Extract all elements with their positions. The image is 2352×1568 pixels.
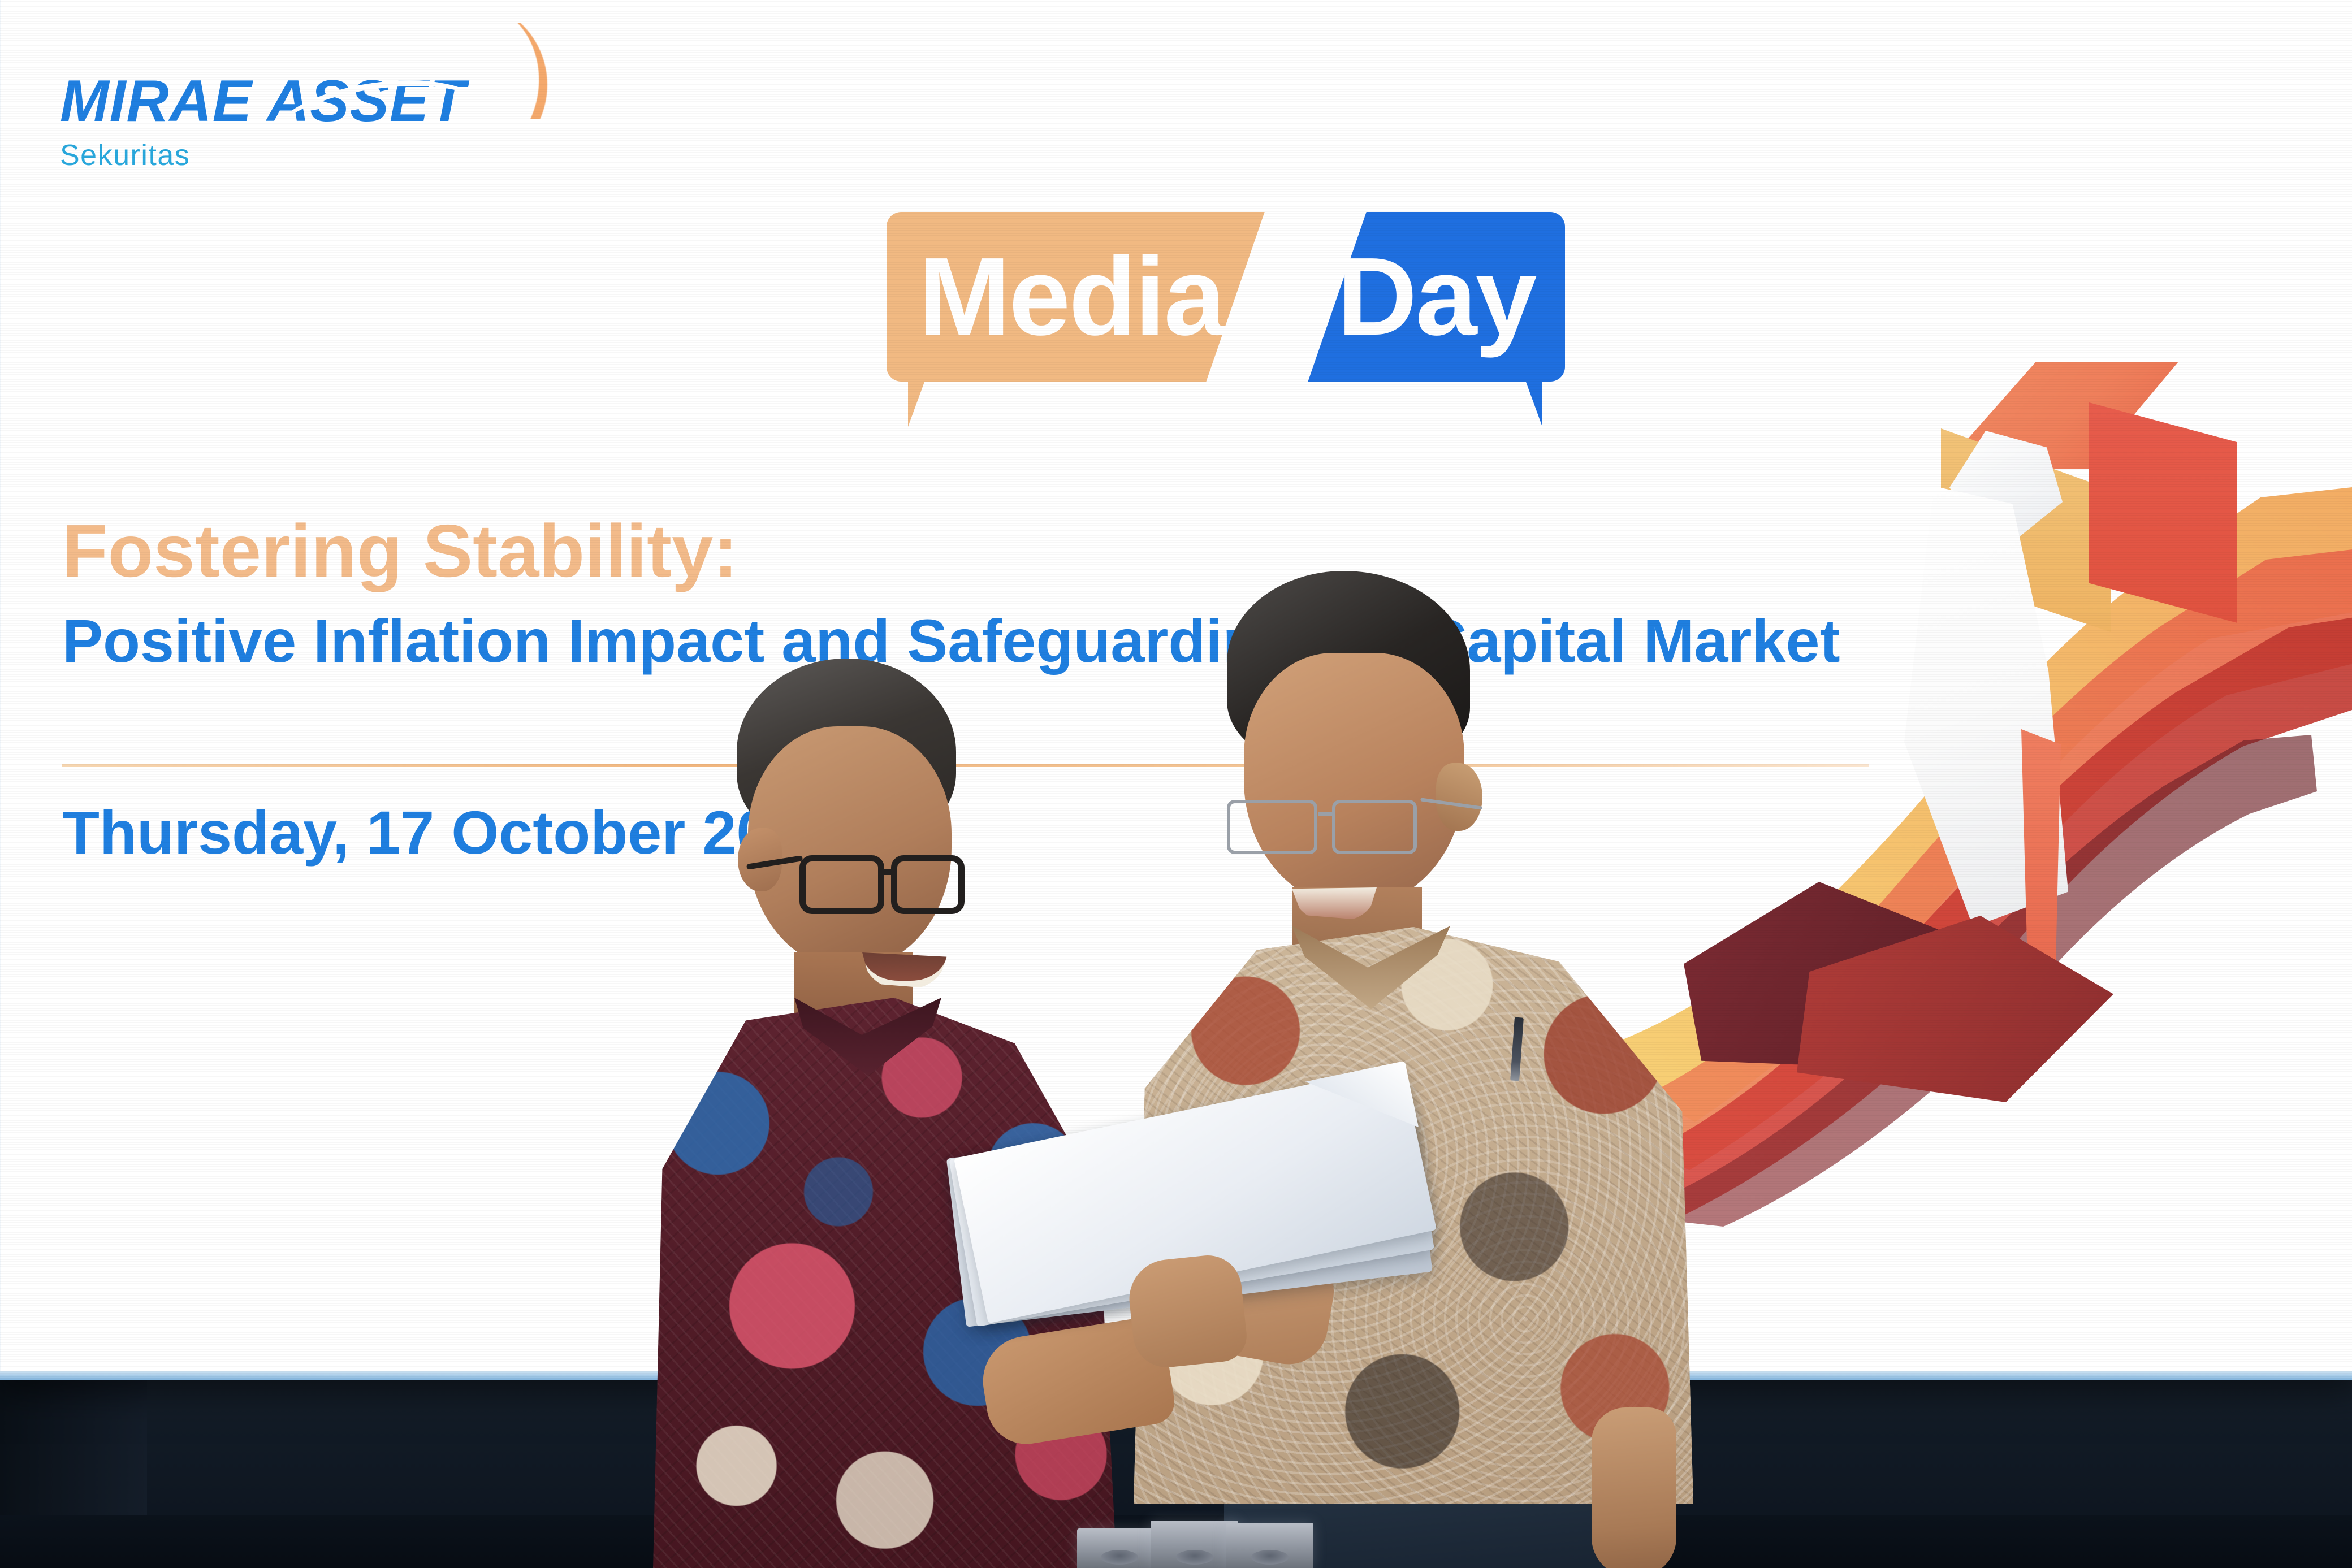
day-label: Day — [1337, 212, 1536, 382]
decorative-swoosh-icon — [446, 23, 553, 119]
floor-light-block — [1151, 1521, 1238, 1568]
media-day-logo: Media Day — [887, 212, 1565, 415]
person-left — [653, 659, 1117, 1568]
floor-light-block — [1077, 1528, 1162, 1568]
person-right-glasses-icon — [1221, 800, 1436, 865]
growth-illustration — [1610, 345, 2352, 1227]
person-left-hand — [1126, 1252, 1249, 1371]
floor-light-block — [1226, 1523, 1313, 1568]
logo-wordmark: MIRAE ASSET — [60, 68, 466, 135]
person-right — [1122, 571, 1693, 1568]
person-right-hand — [1592, 1407, 1676, 1568]
mirae-asset-logo: MIRAE ASSET Sekuritas — [60, 68, 466, 172]
person-right-ear — [1436, 763, 1482, 831]
media-bubble-tail — [908, 380, 941, 427]
person-right-face — [1244, 653, 1464, 907]
logo-sub-text: Sekuritas — [60, 138, 466, 172]
screen-left-edge — [0, 0, 1, 1380]
photo-scene: MIRAE ASSET Sekuritas Media Day Fosterin… — [0, 0, 2352, 1568]
media-label: Media — [918, 212, 1223, 382]
person-left-glasses-icon — [786, 855, 972, 922]
day-bubble-tail — [1510, 380, 1542, 427]
logo-main-text: MIRAE ASSET — [60, 68, 466, 134]
cube-right-face — [2089, 402, 2237, 623]
